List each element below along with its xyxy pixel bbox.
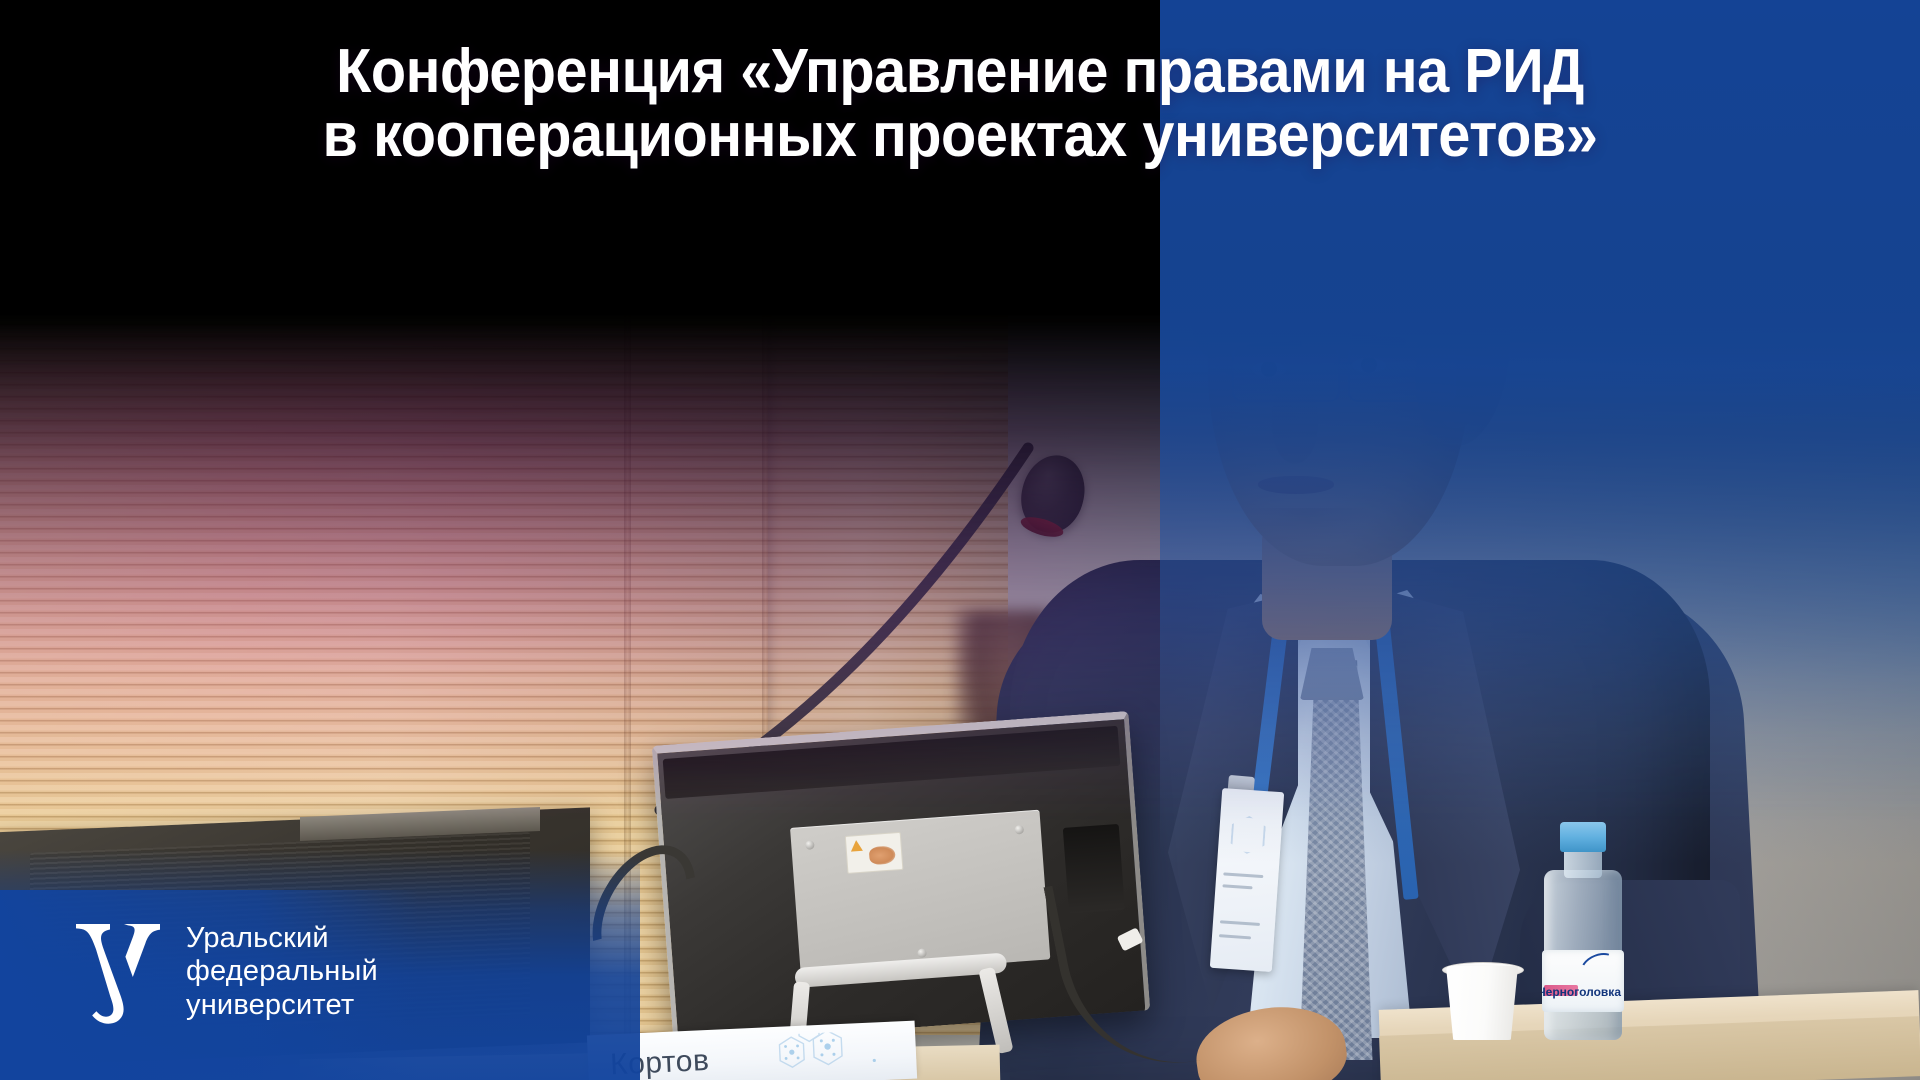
mouth	[1258, 476, 1334, 494]
chin-shadow	[1240, 508, 1370, 548]
urfu-logo-text: Уральский федеральный университет	[186, 922, 378, 1023]
bottle-brand-swoosh-icon	[1577, 950, 1622, 986]
event-title: Конференция «Управление правами на РИД в…	[0, 40, 1920, 168]
eyeglass-lens-right	[1348, 346, 1456, 402]
event-title-line-2: в кооперационных проектах университетов»	[67, 104, 1853, 168]
urfu-u-logo-icon	[72, 920, 164, 1024]
eyeglass-bridge	[1334, 362, 1352, 365]
urfu-logo[interactable]: Уральский федеральный университет	[72, 920, 378, 1024]
desktop-monitor-rear	[652, 711, 1151, 1045]
vesa-screw	[805, 840, 815, 850]
nose	[1272, 386, 1318, 464]
eyeglasses-icon	[1228, 346, 1478, 402]
badge-text-line	[1222, 884, 1252, 889]
urfu-logo-line-3: университет	[186, 989, 378, 1023]
bottle-brand-text: Черноголовка	[1542, 985, 1621, 999]
monitor-warning-label-icon	[845, 832, 904, 874]
conference-banner: Кортов Черноголовка Конференция «Управле…	[0, 0, 1920, 1080]
badge-text-line	[1223, 872, 1263, 878]
event-title-line-1: Конференция «Управление правами на РИД	[67, 40, 1853, 104]
name-plate-text: Кортов	[609, 1044, 710, 1080]
urfu-logo-line-2: федеральный	[186, 955, 378, 989]
badge-text-line	[1219, 934, 1251, 939]
bottle-cap	[1560, 822, 1606, 852]
badge-hexagon-icon	[1230, 815, 1267, 855]
water-bottle: Черноголовка	[1542, 822, 1624, 1040]
bottle-label: Черноголовка	[1542, 950, 1624, 1012]
paper-cup	[1446, 966, 1518, 1040]
monitor-vesa-plate	[790, 810, 1050, 978]
conference-badge	[1210, 788, 1284, 972]
hexagon-pattern-icon	[755, 1029, 907, 1080]
vesa-screw	[1014, 825, 1024, 835]
urfu-logo-line-1: Уральский	[186, 922, 378, 956]
badge-text-line	[1220, 920, 1260, 926]
vesa-screw	[917, 948, 927, 958]
